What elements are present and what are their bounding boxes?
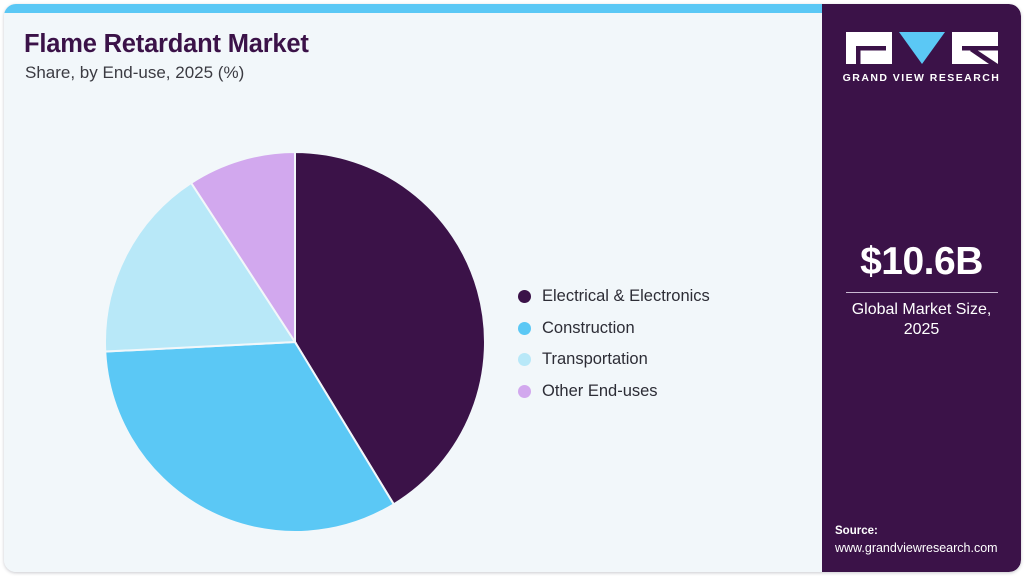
legend-swatch-construction (518, 322, 531, 335)
page-subtitle: Share, by End-use, 2025 (%) (25, 63, 244, 83)
legend-swatch-other-end-uses (518, 385, 531, 398)
pie-chart (94, 138, 494, 542)
page-title: Flame Retardant Market (24, 30, 309, 59)
logo-wordmark: GRAND VIEW RESEARCH (822, 72, 1021, 84)
gvr-logo-icon (846, 32, 998, 64)
chart-card: Flame Retardant Market Share, by End-use… (4, 4, 1021, 572)
source-url[interactable]: www.grandviewresearch.com (835, 540, 1015, 557)
source-label: Source: (835, 523, 1015, 540)
stat-divider (846, 292, 998, 293)
legend-label-transportation: Transportation (542, 350, 648, 369)
legend-item-other-end-uses[interactable]: Other End-uses (518, 376, 710, 408)
pie-chart-svg (94, 138, 494, 542)
chart-legend: Electrical & Electronics Construction Tr… (518, 281, 710, 407)
legend-item-construction[interactable]: Construction (518, 313, 710, 345)
pie-slice-group (105, 152, 485, 532)
legend-label-other-end-uses: Other End-uses (542, 382, 658, 401)
stat-caption: Global Market Size, 2025 (834, 300, 1009, 341)
legend-swatch-electrical-electronics (518, 290, 531, 303)
legend-label-construction: Construction (542, 319, 635, 338)
grand-view-research-logo: GRAND VIEW RESEARCH (822, 32, 1021, 84)
stat-value: $10.6B (834, 242, 1009, 283)
chart-main-area: Flame Retardant Market Share, by End-use… (4, 13, 822, 572)
brand-panel: GRAND VIEW RESEARCH $10.6B Global Market… (822, 4, 1021, 572)
legend-item-transportation[interactable]: Transportation (518, 344, 710, 376)
market-size-stat: $10.6B Global Market Size, 2025 (822, 242, 1021, 341)
legend-item-electrical-electronics[interactable]: Electrical & Electronics (518, 281, 710, 313)
legend-label-electrical-electronics: Electrical & Electronics (542, 287, 710, 306)
infographic-root: Flame Retardant Market Share, by End-use… (0, 0, 1025, 576)
source-block: Source: www.grandviewresearch.com (835, 523, 1015, 557)
top-accent-bar (4, 4, 822, 13)
legend-swatch-transportation (518, 353, 531, 366)
